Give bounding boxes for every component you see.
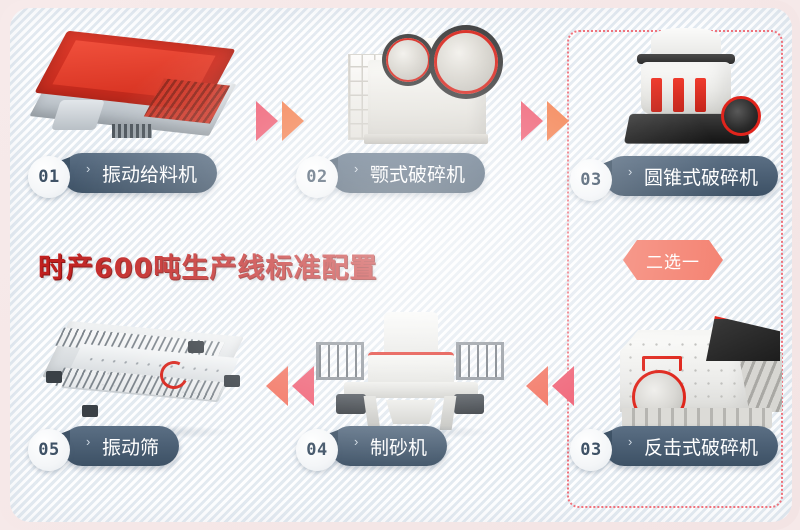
arrow-jaw-to-cone xyxy=(521,101,577,141)
chevron-right-icon: › xyxy=(628,165,632,178)
step-label-05[interactable]: › 振动筛 xyxy=(62,426,179,466)
step-label-text-03-impact: 反击式破碎机 xyxy=(644,433,758,460)
machine-sand-making xyxy=(310,308,510,433)
step-number-04: 04 xyxy=(306,440,327,460)
arrow-feeder-to-jaw xyxy=(256,101,312,141)
step-label-03-impact[interactable]: › 反击式破碎机 xyxy=(604,426,778,466)
vsi-platform-rail-right xyxy=(456,342,504,380)
step-label-02[interactable]: › 颚式破碎机 xyxy=(330,153,485,193)
chevron-right-icon: › xyxy=(354,435,358,448)
step-label-text-01: 振动给料机 xyxy=(102,160,197,187)
step-number-05: 05 xyxy=(38,440,59,460)
machine-jaw-crusher xyxy=(342,16,512,156)
vsi-discharge-chute xyxy=(386,400,436,424)
screen-mount-foot xyxy=(46,371,62,383)
arrow-chevron-icon xyxy=(547,101,569,141)
arrow-chevron-icon xyxy=(256,101,278,141)
step-badge-03-cone: 03 xyxy=(570,159,612,201)
machine-cone-crusher xyxy=(607,20,767,160)
arrow-chevron-icon xyxy=(552,366,574,406)
feeder-support-legs xyxy=(112,124,152,138)
cone-drive-pulley xyxy=(721,96,761,136)
machine-vibrating-feeder xyxy=(30,26,245,156)
step-badge-03-impact: 03 xyxy=(570,429,612,471)
step-badge-04: 04 xyxy=(296,429,338,471)
step-number-01: 01 xyxy=(38,167,59,187)
step-badge-01: 01 xyxy=(28,156,70,198)
machine-vibrating-screen xyxy=(38,313,253,433)
machine-impact-crusher xyxy=(610,308,785,438)
impact-base-ribs xyxy=(622,408,772,428)
arrow-chevron-icon xyxy=(526,366,548,406)
cone-feed-hopper xyxy=(651,28,721,56)
vsi-platform-rail-left xyxy=(316,342,364,380)
impact-handle xyxy=(642,356,682,371)
step-label-text-02: 颚式破碎机 xyxy=(370,160,465,187)
arrow-sand-to-screen xyxy=(258,366,314,406)
production-line-diagram: › 振动给料机 01 › 颚式破碎机 02 xyxy=(0,0,800,530)
step-label-text-04: 制砂机 xyxy=(370,433,427,460)
jaw-base xyxy=(364,134,488,144)
vsi-feed-drum xyxy=(384,312,438,354)
step-label-text-05: 振动筛 xyxy=(102,433,159,460)
screen-mount-foot xyxy=(224,375,240,387)
chevron-right-icon: › xyxy=(86,162,90,175)
chevron-right-icon: › xyxy=(354,162,358,175)
chevron-right-icon: › xyxy=(86,435,90,448)
feeder-motor xyxy=(51,100,105,130)
cone-hydraulic-cylinder xyxy=(695,78,706,112)
step-badge-02: 02 xyxy=(296,156,338,198)
step-label-04[interactable]: › 制砂机 xyxy=(330,426,447,466)
step-label-01[interactable]: › 振动给料机 xyxy=(62,153,217,193)
diagram-panel: › 振动给料机 01 › 颚式破碎机 02 xyxy=(10,8,792,522)
arrow-chevron-icon xyxy=(282,101,304,141)
cone-hydraulic-cylinder xyxy=(651,78,662,112)
screen-mount-foot xyxy=(82,405,98,417)
vsi-motor-left xyxy=(336,394,366,414)
arrow-chevron-icon xyxy=(521,101,543,141)
choose-one-text: 二选一 xyxy=(646,248,700,273)
page-title: 时产600吨生产线标准配置 xyxy=(38,246,377,285)
choose-one-badge: 二选一 xyxy=(623,240,723,280)
vsi-motor-right xyxy=(454,394,484,414)
chevron-right-icon: › xyxy=(628,435,632,448)
step-number-02: 02 xyxy=(306,167,327,187)
arrow-chevron-icon xyxy=(292,366,314,406)
step-number-03-cone: 03 xyxy=(580,170,601,190)
step-number-03-impact: 03 xyxy=(580,440,601,460)
jaw-flywheel-rear xyxy=(386,38,430,82)
screen-mount-foot xyxy=(188,341,204,353)
jaw-flywheel-front xyxy=(434,30,498,94)
impact-feed-lid xyxy=(706,316,780,361)
step-label-text-03-cone: 圆锥式破碎机 xyxy=(644,163,758,190)
arrow-chevron-icon xyxy=(266,366,288,406)
step-label-03-cone[interactable]: › 圆锥式破碎机 xyxy=(604,156,778,196)
cone-hydraulic-cylinder xyxy=(673,78,684,112)
step-badge-05: 05 xyxy=(28,429,70,471)
arrow-impact-to-sand xyxy=(518,366,574,406)
